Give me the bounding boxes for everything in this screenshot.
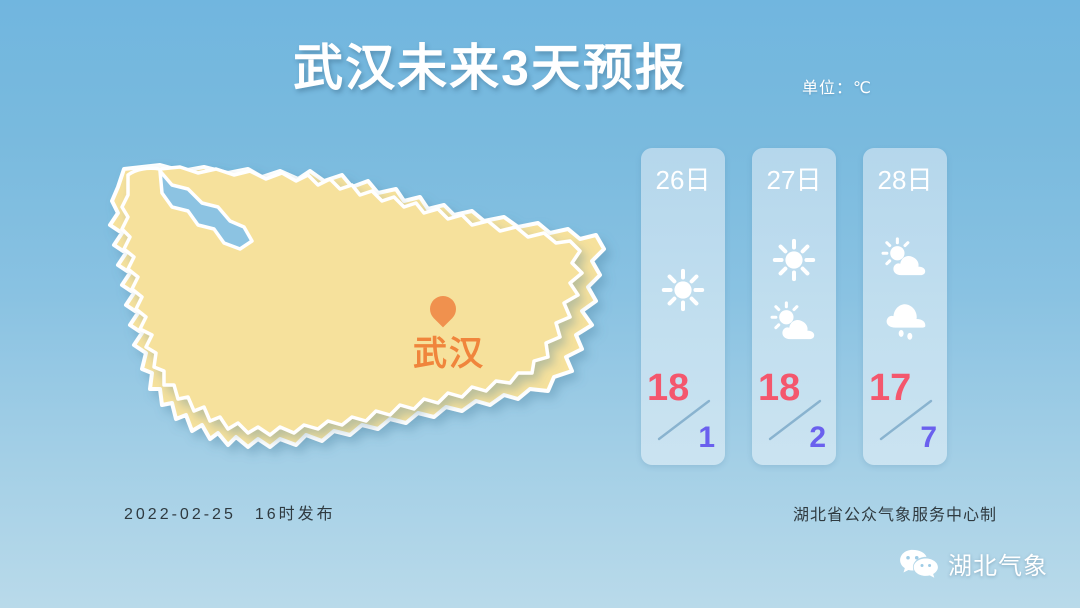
low-temperature: 1 [698,423,715,453]
weather-icon-group [641,210,725,370]
low-temperature: 7 [920,423,937,453]
wechat-account-badge[interactable]: 湖北气象 [898,546,1048,581]
partly-cloudy-icon [880,237,930,279]
map-pin-shape [425,291,462,328]
forecast-date: 26日 [641,160,725,197]
forecast-card[interactable]: 28日 [863,148,947,465]
forecast-card[interactable]: 26日 18 [641,148,725,465]
sunny-icon [660,267,706,313]
temperature-range: 18 1 [641,365,725,461]
partly-cloudy-icon [769,301,819,343]
weather-forecast-graphic: 武汉未来3天预报 单位：℃ 武汉 26日 [0,0,1080,608]
unit-label: 单位：℃ [802,74,872,98]
forecast-card-list: 26日 18 [641,148,947,465]
hubei-province-map [52,145,612,475]
weather-icon-group [752,210,836,370]
wechat-account-name: 湖北气象 [948,546,1048,581]
low-temperature: 2 [809,423,826,453]
forecast-date: 28日 [863,160,947,197]
forecast-card[interactable]: 27日 [752,148,836,465]
rain-icon [880,297,930,343]
temperature-range: 17 7 [863,365,947,461]
temperature-range: 18 2 [752,365,836,461]
issued-timestamp: 2022-02-25 16时发布 [124,500,336,524]
weather-icon-group [863,210,947,370]
producer-credit: 湖北省公众气象服务中心制 [793,501,997,525]
city-label: 武汉 [404,326,494,375]
sunny-icon [771,237,817,283]
forecast-date: 27日 [752,160,836,197]
wechat-icon [898,547,940,581]
